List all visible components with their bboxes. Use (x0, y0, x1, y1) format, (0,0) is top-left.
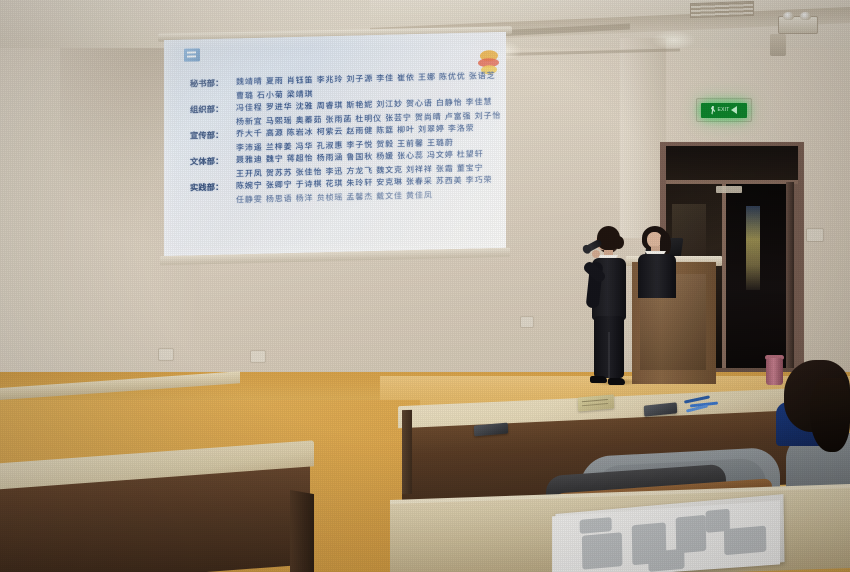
door-sign-plate (716, 186, 742, 193)
screen-surface: 秘书部： 魏靖晴 夏雨 肖钰笛 李兆玲 刘子源 李佳 崔依 王娜 陈优优 张语芝… (164, 32, 506, 256)
desk-leg (402, 410, 412, 494)
shoe-left (590, 376, 607, 383)
shoe-right (608, 378, 625, 385)
presenter-with-microphone (584, 228, 634, 388)
trouser-seam (608, 332, 610, 378)
hair-strand (810, 378, 850, 452)
hand (592, 250, 600, 258)
ceiling-air-vent (690, 1, 754, 18)
power-outlet[interactable] (250, 350, 266, 363)
presenter-at-podium (636, 226, 680, 296)
wall-speaker (770, 34, 786, 56)
arrow-icon (731, 106, 737, 114)
desk-surface (0, 371, 240, 400)
suit-jacket (638, 254, 676, 298)
ceiling-emergency-light (778, 16, 818, 34)
audience-member-seated (776, 360, 850, 480)
desk-row-left-foreground (0, 452, 314, 572)
door-leaf-open[interactable] (786, 182, 794, 372)
lanyards[interactable] (684, 396, 718, 410)
desk-side-panel (290, 490, 314, 572)
ceiling-light-glow-2 (652, 30, 696, 50)
door-transom-window (666, 146, 798, 180)
corridor-light (746, 206, 760, 290)
lecture-hall-photo: 秘书部： 魏靖晴 夏雨 肖钰笛 李兆玲 刘子源 李佳 崔依 王娜 陈优优 张语芝… (0, 0, 850, 572)
power-outlet[interactable] (806, 228, 824, 242)
power-outlet[interactable] (520, 316, 534, 328)
running-man-icon (711, 106, 716, 115)
exit-sign-housing: EXIT (696, 98, 752, 122)
exit-sign-label: EXIT (718, 107, 730, 113)
projection-screen: 秘书部： 魏靖晴 夏雨 肖钰笛 李兆玲 刘子源 李佳 崔依 王娜 陈优优 张语芝… (158, 30, 512, 262)
hair-bun (613, 236, 624, 249)
emergency-exit-sign: EXIT (701, 103, 747, 118)
screen-glare (164, 32, 506, 256)
power-outlet[interactable] (158, 348, 174, 361)
desk-row-far-left (0, 372, 240, 412)
